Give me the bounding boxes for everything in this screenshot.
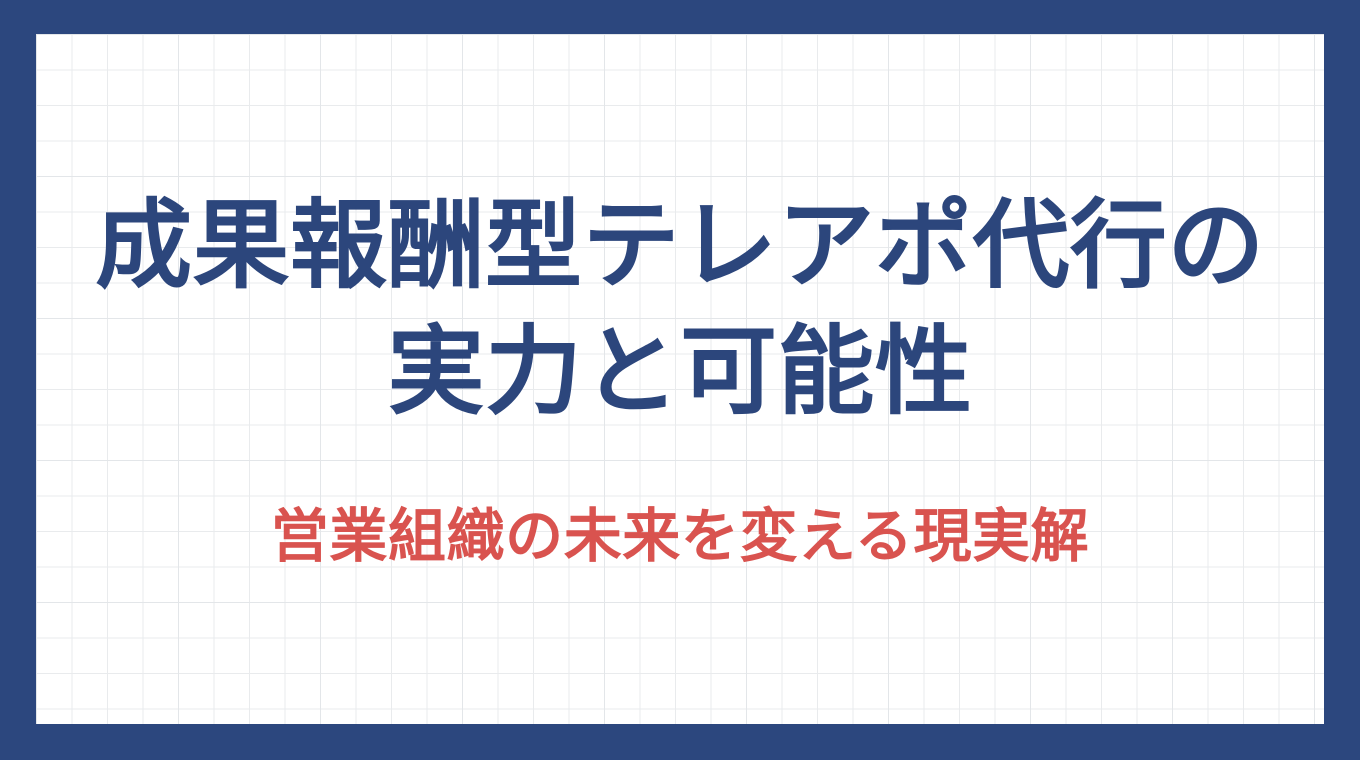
title-line-1: 成果報酬型テレアポ代行の — [76, 183, 1284, 309]
subtitle: 営業組織の未来を変える現実解 — [271, 499, 1089, 574]
title-block: 成果報酬型テレアポ代行の 実力と可能性 — [76, 183, 1284, 435]
title-line-2: 実力と可能性 — [76, 309, 1284, 435]
card-content: 成果報酬型テレアポ代行の 実力と可能性 営業組織の未来を変える現実解 — [36, 34, 1324, 724]
content-card: 成果報酬型テレアポ代行の 実力と可能性 営業組織の未来を変える現実解 — [36, 34, 1324, 724]
slide-canvas: 成果報酬型テレアポ代行の 実力と可能性 営業組織の未来を変える現実解 — [0, 0, 1360, 760]
